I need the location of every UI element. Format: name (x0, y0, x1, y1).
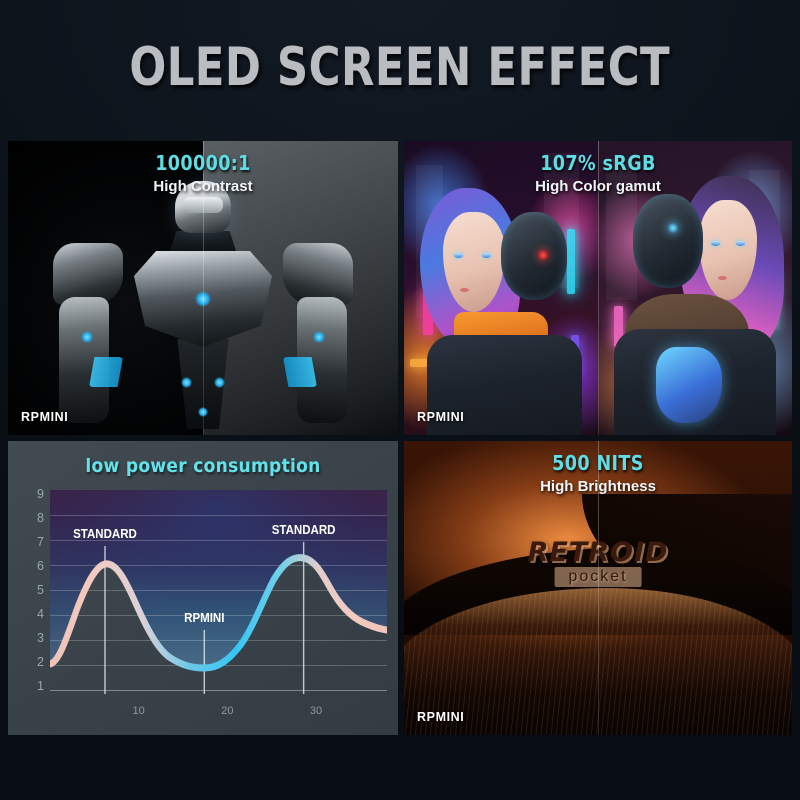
chart-annotation-label: STANDARD (272, 522, 336, 537)
page-header: OLED SCREEN EFFECT (0, 0, 800, 135)
chart-title: low power consumption (28, 455, 379, 477)
chart-y-tick: 1 (37, 679, 44, 693)
chart-y-tick: 9 (37, 487, 44, 501)
gamut-right-half (598, 141, 792, 435)
chart-y-tick: 3 (37, 631, 44, 645)
mech-glow-strip-left (89, 357, 123, 387)
character-jacket (427, 335, 582, 435)
chart-svg: STANDARD STANDARD RPMINI (50, 490, 387, 694)
panel-color-gamut[interactable]: 107% sRGB High Color gamut RPMINI (404, 141, 792, 435)
panel-low-power[interactable]: low power consumption 987654321 (8, 441, 398, 735)
desert-dune-background (404, 441, 792, 735)
character-cyber-arm (656, 347, 722, 423)
character-eye (711, 241, 720, 246)
chart-x-tick: 20 (221, 705, 233, 717)
mech-glow-dot (214, 377, 225, 388)
chart-y-tick: 5 (37, 583, 44, 597)
chart-x-tick: 30 (310, 705, 322, 717)
chart-y-tick: 7 (37, 535, 44, 549)
character-headphones (633, 194, 703, 288)
power-consumption-chart: 987654321 (8, 487, 398, 735)
mech-shoulder-right (283, 243, 353, 305)
mech-glow-strip-right (283, 357, 317, 387)
gamut-left-half (404, 141, 598, 435)
page-title: OLED SCREEN EFFECT (130, 37, 671, 98)
sand-texture (404, 588, 792, 735)
dune-ridge-foreground (404, 588, 792, 735)
chart-y-tick: 6 (37, 559, 44, 573)
mech-visor (183, 197, 223, 213)
cyberpunk-character-left (404, 141, 598, 435)
character-eye (736, 241, 745, 246)
chart-y-tick: 4 (37, 607, 44, 621)
chart-y-tick: 8 (37, 511, 44, 525)
chart-x-axis-labels: 102030 (50, 705, 387, 721)
chart-y-tick: 2 (37, 655, 44, 669)
character-eye (454, 253, 463, 258)
character-headphones (501, 212, 567, 300)
mech-core-glow (195, 291, 211, 307)
character-eye (482, 253, 491, 258)
mech-glow-dot (81, 331, 93, 343)
chart-x-tick: 10 (133, 705, 145, 717)
feature-panel-grid: 100000:1 High Contrast RPMINI (8, 141, 792, 741)
chart-annotation-label: RPMINI (184, 610, 224, 625)
mech-glow-dot (181, 377, 192, 388)
mech-shoulder-left (53, 243, 123, 305)
chart-y-axis-labels: 987654321 (22, 487, 44, 693)
panel-high-brightness[interactable]: RETROID pocket 500 NITS High Brightness … (404, 441, 792, 735)
chart-annotation-label: STANDARD (73, 526, 137, 541)
mech-glow-dot (313, 331, 325, 343)
chart-plot-area: STANDARD STANDARD RPMINI (50, 490, 387, 694)
panel-high-contrast[interactable]: 100000:1 High Contrast RPMINI (8, 141, 398, 435)
mech-glow-dot (198, 407, 208, 417)
cyberpunk-character-right (598, 141, 792, 435)
oled-screen-effect-page: OLED SCREEN EFFECT (0, 0, 800, 800)
headphone-indicator-light (538, 250, 548, 260)
mech-warrior-illustration (53, 181, 353, 435)
